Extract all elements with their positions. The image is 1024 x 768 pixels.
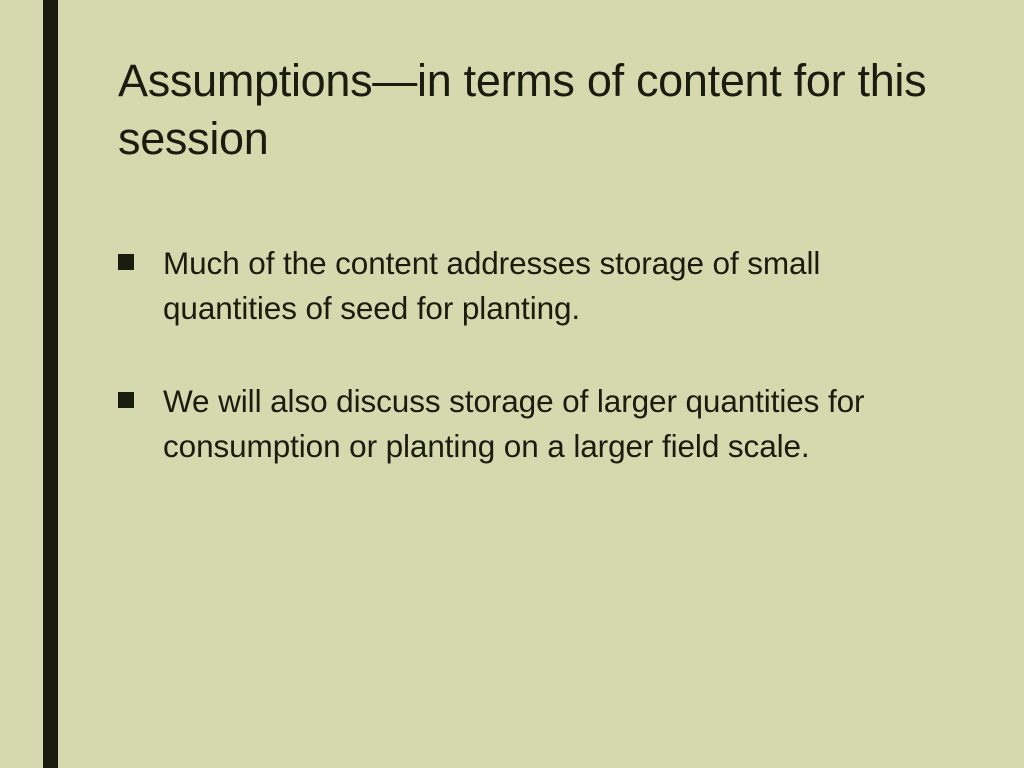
slide-title: Assumptions—in terms of content for this… (118, 52, 988, 168)
bullet-text: Much of the content addresses storage of… (163, 241, 908, 331)
bullet-text: We will also discuss storage of larger q… (163, 379, 923, 469)
list-item: Much of the content addresses storage of… (118, 241, 978, 331)
filled-square-bullet-icon (118, 254, 134, 270)
left-accent-bar (43, 0, 58, 768)
filled-square-bullet-icon (118, 392, 134, 408)
list-item: We will also discuss storage of larger q… (118, 379, 978, 469)
slide-body-bullet-list: Much of the content addresses storage of… (118, 241, 978, 469)
presentation-slide: Assumptions—in terms of content for this… (0, 0, 1024, 768)
